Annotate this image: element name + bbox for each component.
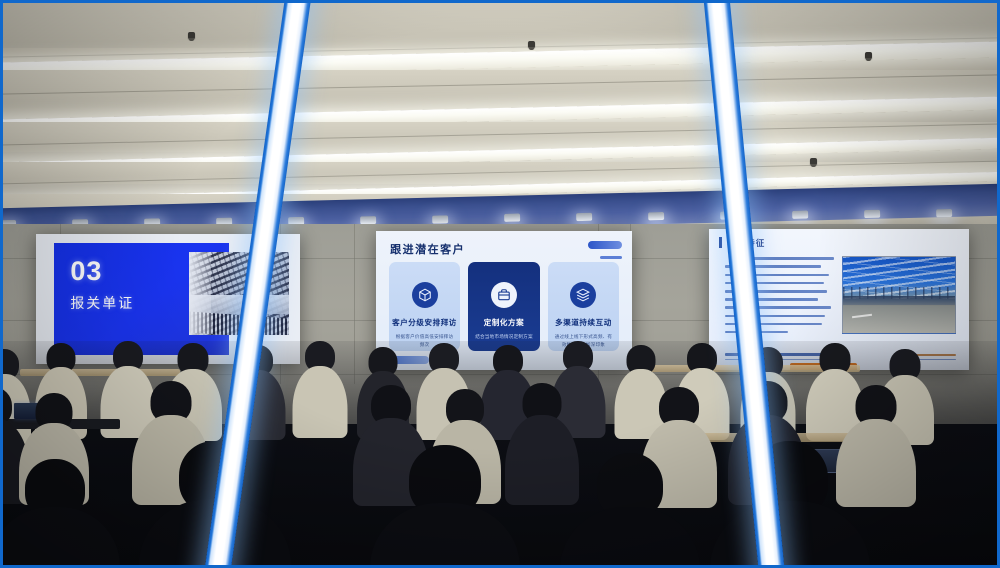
layers-icon (570, 282, 596, 308)
slide-left-number: 03 (70, 256, 102, 287)
slide-middle-title: 跟进潜在客户 (390, 241, 465, 257)
decor-pill-small (600, 256, 622, 259)
sprinkler-icon (528, 41, 535, 48)
card-heading: 客户分级安排拜访 (392, 317, 457, 328)
attendee-foreground (570, 453, 690, 568)
card-heading: 定制化方案 (484, 317, 525, 328)
sprinkler-icon (865, 52, 872, 59)
slide-right-photo (842, 256, 956, 334)
decor-pill (588, 241, 622, 249)
cube-icon (412, 282, 438, 308)
sprinkler-icon (188, 32, 195, 39)
attendee-foreground (720, 441, 860, 568)
attendee-foreground (380, 445, 510, 568)
audience (0, 341, 1000, 568)
card-heading: 多渠道持续互动 (555, 317, 612, 328)
sprinkler-icon (810, 158, 817, 165)
briefcase-icon (491, 282, 517, 308)
card-group: 客户分级安排拜访 根据客户价值高低安排拜访频次 定制化方案 结合当地 (389, 262, 619, 351)
conference-room: 03 报关单证 跟进潜在客户 (0, 0, 1000, 568)
attendee-foreground (0, 459, 110, 568)
attendee (508, 383, 576, 499)
card-custom-solution[interactable]: 定制化方案 结合当地市场情况定制方案 (468, 262, 539, 351)
attendee (294, 341, 346, 433)
title-accent-bar (719, 237, 722, 248)
card-multichannel[interactable]: 多渠道持续互动 通过线上线下形式高频、有效触达客户加深印象 (548, 262, 619, 351)
slide-left-title: 报关单证 (70, 293, 134, 313)
screenshot-root: 03 报关单证 跟进潜在客户 (0, 0, 1000, 568)
card-customer-tiering[interactable]: 客户分级安排拜访 根据客户价值高低安排拜访频次 (389, 262, 460, 351)
